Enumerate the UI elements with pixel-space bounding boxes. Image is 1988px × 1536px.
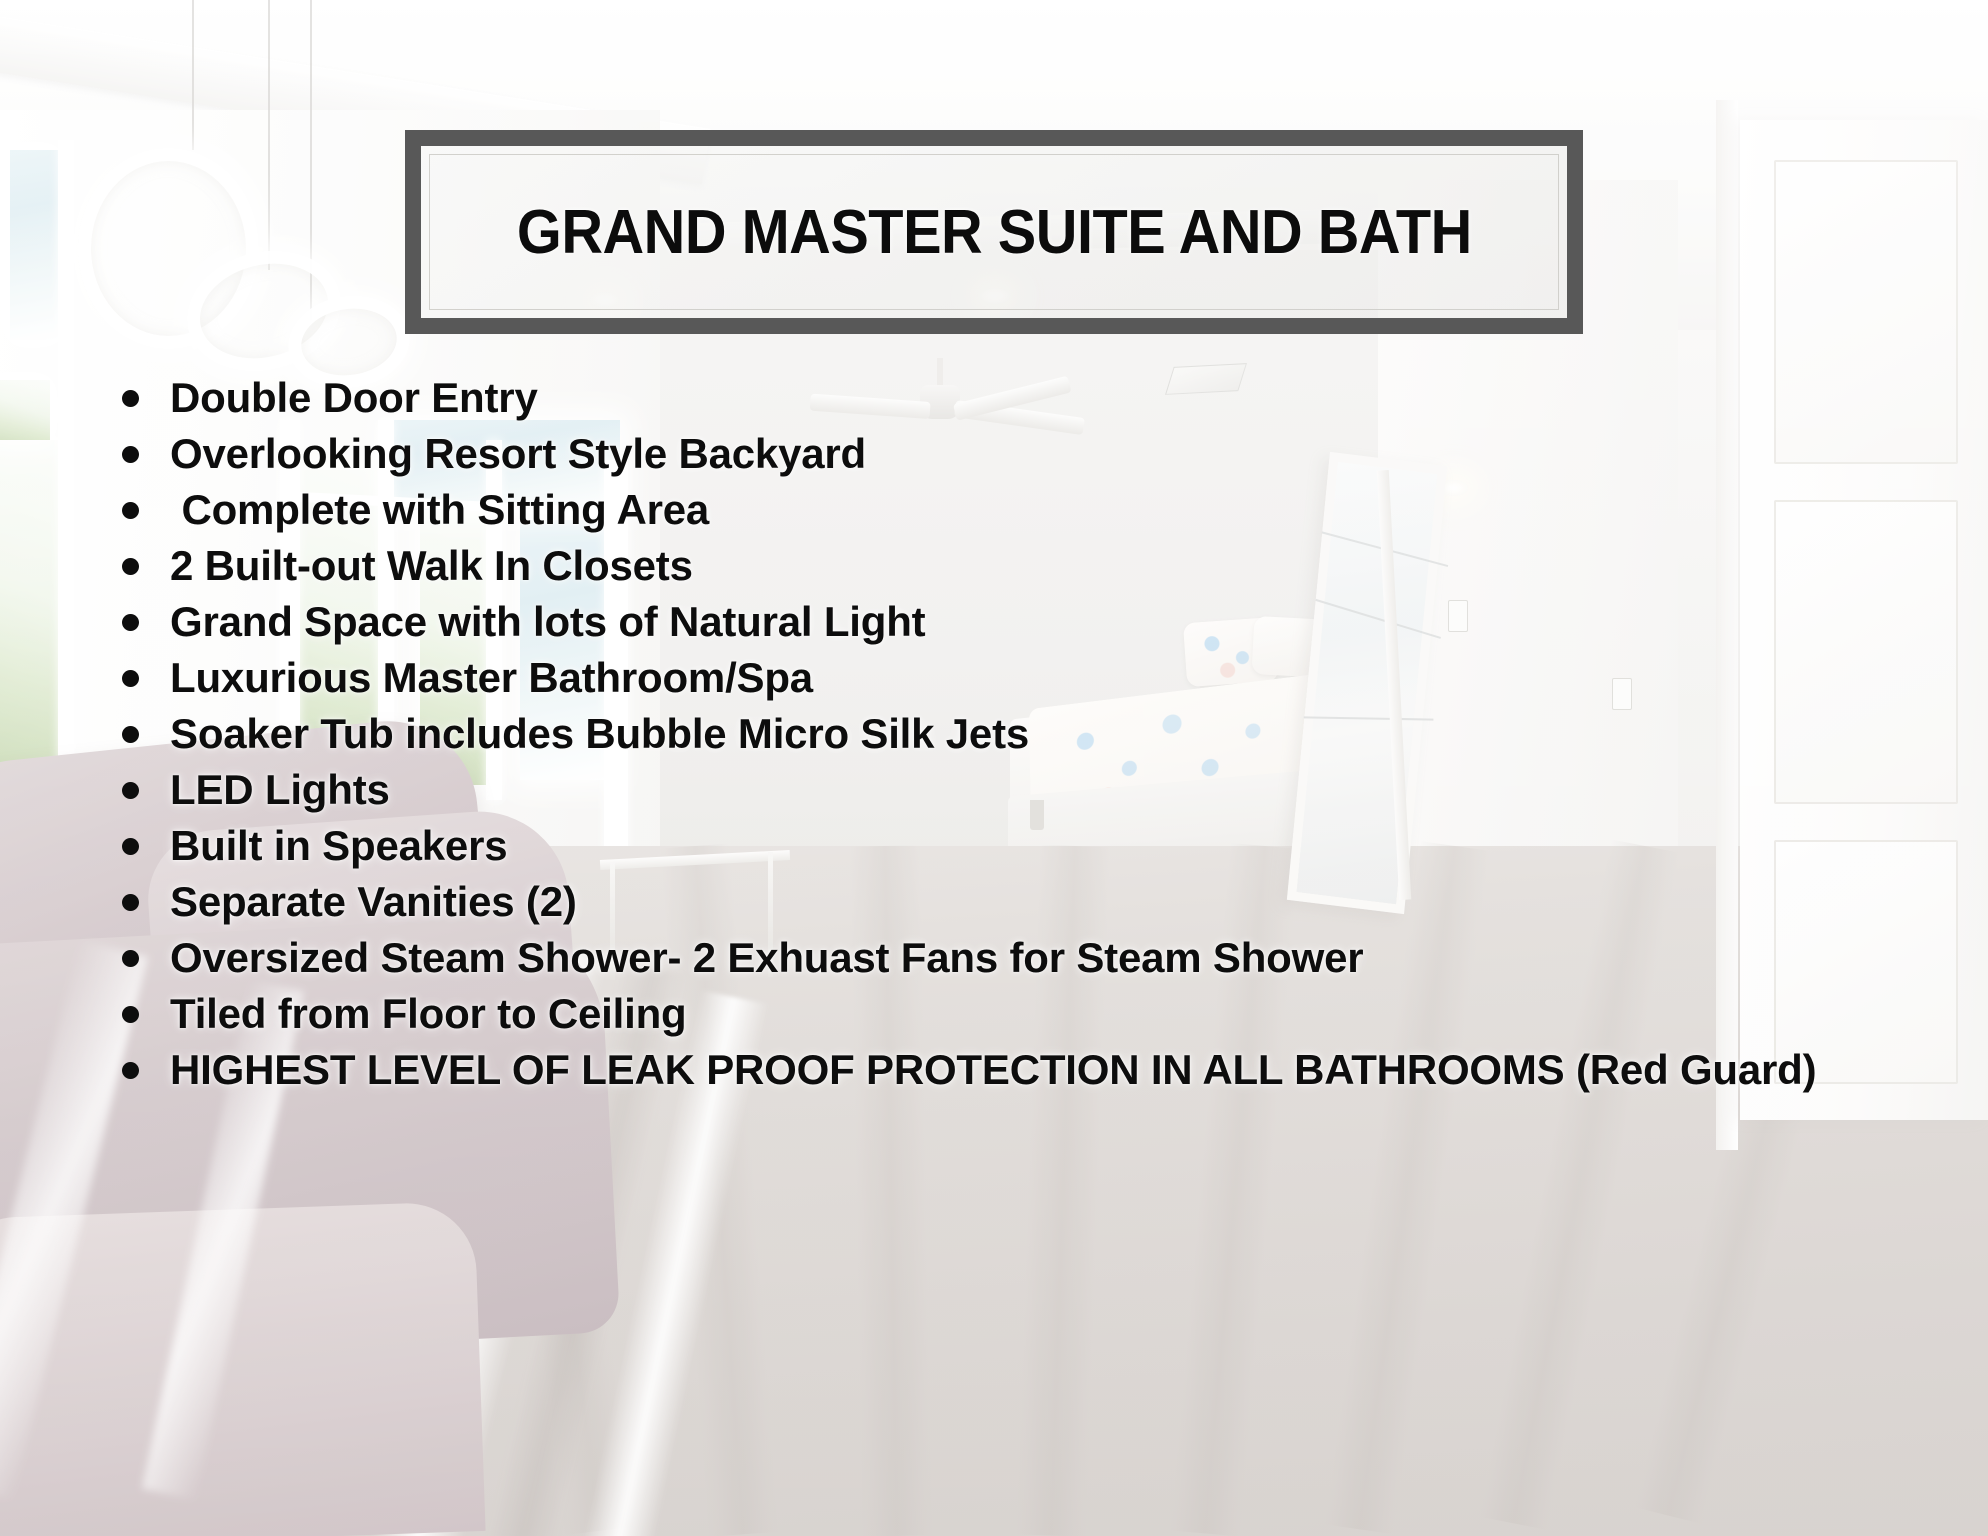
list-item-label: Separate Vanities (2) xyxy=(170,878,577,925)
list-item: Luxurious Master Bathroom/Spa xyxy=(108,650,1938,706)
list-item-label: 2 Built-out Walk In Closets xyxy=(170,542,693,589)
list-item-label: HIGHEST LEVEL OF LEAK PROOF PROTECTION I… xyxy=(170,1046,1816,1093)
list-item-label: Built in Speakers xyxy=(170,822,507,869)
bullet-dot-icon xyxy=(122,614,139,631)
bullet-dot-icon xyxy=(122,894,139,911)
page-title: GRAND MASTER SUITE AND BATH xyxy=(517,197,1472,268)
list-item-label: LED Lights xyxy=(170,766,390,813)
bullet-dot-icon xyxy=(122,950,139,967)
list-item-label: Overlooking Resort Style Backyard xyxy=(170,430,866,477)
list-item: Separate Vanities (2) xyxy=(108,874,1938,930)
list-item-label: Complete with Sitting Area xyxy=(170,486,709,533)
bullet-dot-icon xyxy=(122,390,139,407)
slide-canvas: GRAND MASTER SUITE AND BATH Double Door … xyxy=(0,0,1988,1536)
list-item: Built in Speakers xyxy=(108,818,1938,874)
list-item-label: Tiled from Floor to Ceiling xyxy=(170,990,686,1037)
list-item-label: Oversized Steam Shower- 2 Exhuast Fans f… xyxy=(170,934,1363,981)
bullet-dot-icon xyxy=(122,558,139,575)
list-item: 2 Built-out Walk In Closets xyxy=(108,538,1938,594)
list-item-label: Double Door Entry xyxy=(170,374,538,421)
list-item: LED Lights xyxy=(108,762,1938,818)
list-item: Tiled from Floor to Ceiling xyxy=(108,986,1938,1042)
title-box: GRAND MASTER SUITE AND BATH xyxy=(405,130,1583,334)
bullet-dot-icon xyxy=(122,1006,139,1023)
feature-list: Double Door EntryOverlooking Resort Styl… xyxy=(108,370,1938,1098)
list-item: Soaker Tub includes Bubble Micro Silk Je… xyxy=(108,706,1938,762)
list-item: Overlooking Resort Style Backyard xyxy=(108,426,1938,482)
bullet-dot-icon xyxy=(122,1062,139,1079)
list-item: HIGHEST LEVEL OF LEAK PROOF PROTECTION I… xyxy=(108,1042,1970,1098)
bullet-dot-icon xyxy=(122,838,139,855)
bullet-dot-icon xyxy=(122,726,139,743)
list-item-label: Grand Space with lots of Natural Light xyxy=(170,598,925,645)
list-item: Double Door Entry xyxy=(108,370,1938,426)
bullet-dot-icon xyxy=(122,446,139,463)
bullet-dot-icon xyxy=(122,502,139,519)
list-item: Complete with Sitting Area xyxy=(108,482,1938,538)
list-item-label: Luxurious Master Bathroom/Spa xyxy=(170,654,813,701)
list-item: Oversized Steam Shower- 2 Exhuast Fans f… xyxy=(108,930,1938,986)
list-item-label: Soaker Tub includes Bubble Micro Silk Je… xyxy=(170,710,1029,757)
bullet-dot-icon xyxy=(122,670,139,687)
list-item: Grand Space with lots of Natural Light xyxy=(108,594,1938,650)
bullet-dot-icon xyxy=(122,782,139,799)
